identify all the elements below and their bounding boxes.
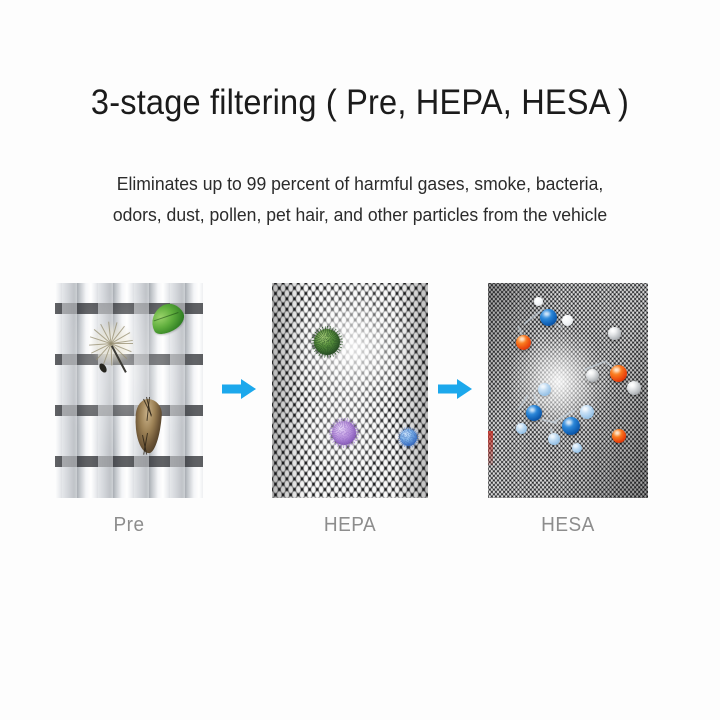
arrow-right-icon	[222, 378, 256, 400]
grey-molecule-particle	[586, 369, 599, 382]
promo-page: 3-stage filtering ( Pre, HEPA, HESA ) El…	[0, 0, 720, 720]
filter-stage-pre: Pre	[55, 283, 203, 537]
filter-stage-row: Pre HEPA	[0, 283, 720, 543]
orange-molecule-particle	[516, 335, 531, 350]
blue-molecule-particle	[540, 309, 557, 326]
pale-molecule-particle	[572, 443, 582, 453]
filter-stage-hepa: HEPA	[272, 283, 428, 537]
pale-molecule-particle	[580, 405, 594, 419]
grey-molecule-particle	[608, 327, 621, 340]
subtitle-line-2: odors, dust, pollen, pet hair, and other…	[18, 199, 702, 230]
filter-stage-hesa: HESA	[488, 283, 648, 537]
purple-bacteria-particle	[332, 421, 356, 445]
pre-filter-image	[55, 283, 203, 498]
page-subtitle: Eliminates up to 99 percent of harmful g…	[18, 168, 702, 230]
white-molecule-particle	[562, 315, 573, 326]
stage-label-pre: Pre	[59, 514, 200, 537]
green-pollen-particle	[314, 329, 340, 355]
pale-molecule-particle	[548, 433, 560, 445]
blue-molecule-particle	[562, 417, 580, 435]
pale-molecule-particle	[538, 383, 551, 396]
hepa-filter-mesh-texture	[272, 283, 428, 498]
hesa-filter-image	[488, 283, 648, 498]
orange-molecule-particle	[610, 365, 627, 382]
page-title: 3-stage filtering ( Pre, HEPA, HESA )	[25, 83, 695, 123]
blue-molecule-particle	[526, 405, 542, 421]
stage-label-hepa: HEPA	[276, 514, 424, 537]
pet-hair-particle	[133, 395, 163, 457]
arrow-right-icon	[438, 378, 472, 400]
white-molecule-particle	[534, 297, 543, 306]
dandelion-seed-particle	[89, 321, 147, 379]
hepa-filter-image	[272, 283, 428, 498]
hesa-edge-streak	[488, 431, 493, 465]
orange-molecule-particle	[612, 429, 626, 443]
blue-spore-particle	[400, 429, 417, 446]
grey-molecule-particle	[627, 381, 641, 395]
stage-label-hesa: HESA	[492, 514, 644, 537]
subtitle-line-1: Eliminates up to 99 percent of harmful g…	[18, 168, 702, 199]
pale-molecule-particle	[516, 423, 527, 434]
